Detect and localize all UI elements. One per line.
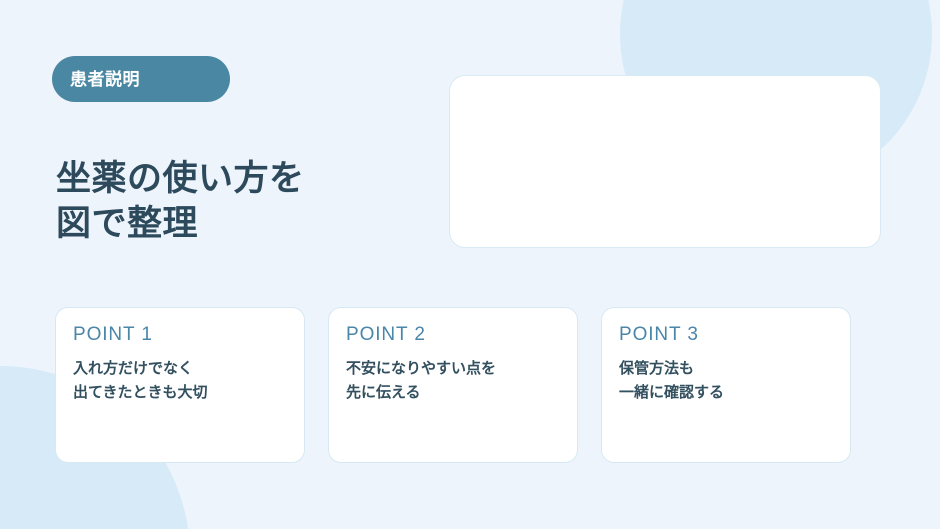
point-card-2-heading: POINT 2 <box>346 325 560 346</box>
point-card-1: POINT 1 入れ方だけでなく 出てきたときも大切 <box>55 307 305 463</box>
point-card-2: POINT 2 不安になりやすい点を 先に伝える <box>328 307 578 463</box>
point-card-3-body: 保管方法も 一緒に確認する <box>619 357 833 404</box>
point-card-2-body: 不安になりやすい点を 先に伝える <box>346 357 560 404</box>
point-card-1-body: 入れ方だけでなく 出てきたときも大切 <box>73 357 287 404</box>
slide-canvas: 患者説明 坐薬の使い方を 図で整理 POINT 1 入れ方だけでなく 出てきたと… <box>0 0 940 529</box>
figure-panel <box>449 75 881 248</box>
category-badge-label: 患者説明 <box>70 71 140 88</box>
point-card-3-heading: POINT 3 <box>619 325 833 346</box>
page-title: 坐薬の使い方を 図で整理 <box>56 157 396 247</box>
point-card-1-heading: POINT 1 <box>73 325 287 346</box>
category-badge: 患者説明 <box>52 56 230 102</box>
point-card-list: POINT 1 入れ方だけでなく 出てきたときも大切 POINT 2 不安になり… <box>55 307 851 463</box>
point-card-3: POINT 3 保管方法も 一緒に確認する <box>601 307 851 463</box>
